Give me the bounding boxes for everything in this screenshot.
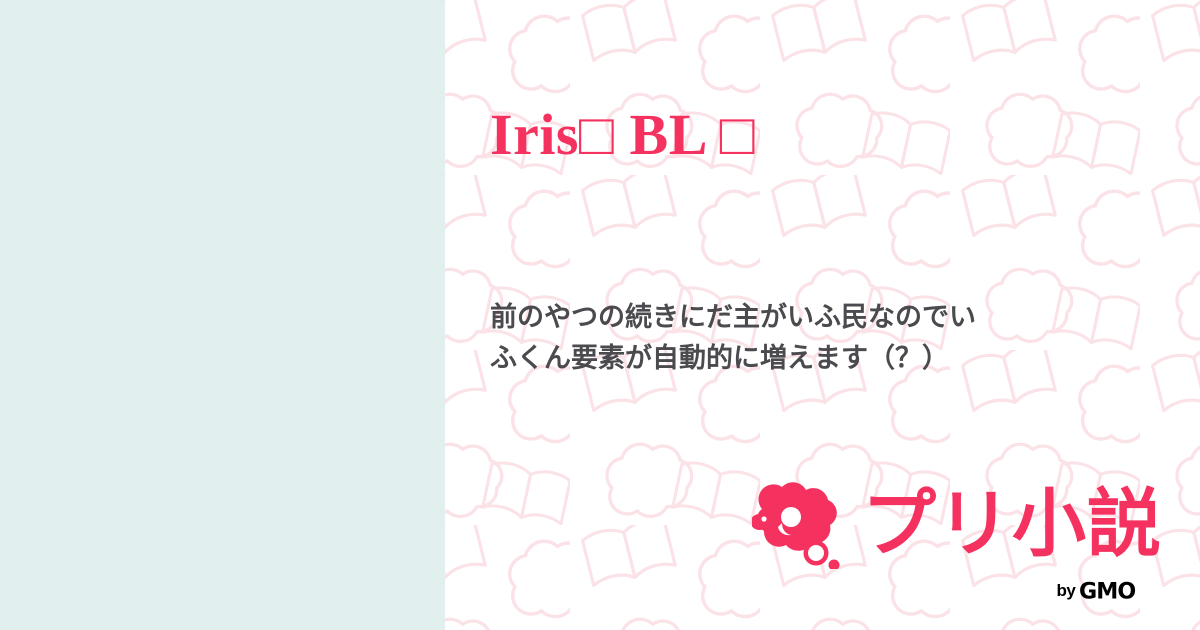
cover-image-panel (0, 0, 445, 630)
novel-summary: 前のやつの続きにだ主がいふ民なのでいふくん要素が自動的に増えます（？） (490, 297, 985, 379)
brand-byline: by GMO (1057, 578, 1168, 604)
thought-bubble-icon (752, 479, 848, 569)
novel-title: Iris□ BL □ (490, 101, 1180, 169)
byline-prefix: by (1057, 581, 1076, 601)
brand-logo: プリ小説 by GMO (752, 476, 1176, 606)
gmo-logo: GMO (1079, 579, 1168, 603)
content-column: Iris□ BL □ 前のやつの続きにだ主がいふ民なのでいふくん要素が自動的に増… (445, 0, 1200, 630)
brand-logo-row: プリ小説 (752, 476, 1182, 572)
gmo-logo-text: GMO (1079, 579, 1135, 603)
brand-wordmark: プリ小説 (862, 481, 1182, 567)
novel-share-card: Iris□ BL □ 前のやつの続きにだ主がいふ民なのでいふくん要素が自動的に増… (0, 0, 1200, 630)
brand-wordmark-text: プリ小説 (862, 481, 1162, 567)
